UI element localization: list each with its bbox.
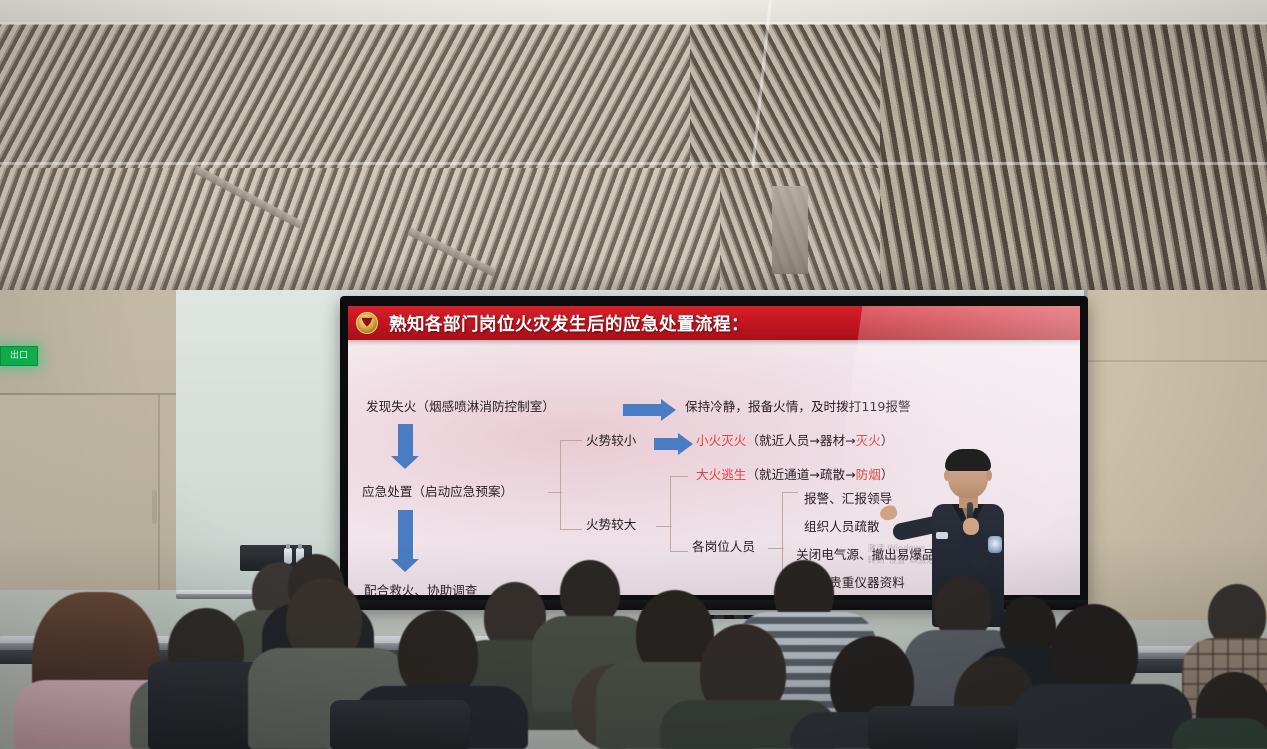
- body-green-top: [1172, 718, 1267, 749]
- ceiling: [0, 0, 1267, 296]
- exit-sign: 出口: [0, 346, 38, 366]
- small-fire-detail-pre: （就近人员→器材→: [746, 433, 855, 448]
- large-fire-detail-pre: （就近通道→疏散→: [746, 467, 855, 482]
- presenter-ear-right: [986, 470, 992, 481]
- large-fire-detail-red: 防烟: [856, 467, 881, 482]
- door-left[interactable]: [0, 395, 160, 590]
- water-bottle-1: [284, 548, 292, 564]
- ceiling-seam-mid: [0, 162, 1267, 165]
- door-handle[interactable]: [152, 490, 157, 524]
- chair-back-3[interactable]: [868, 706, 1018, 749]
- small-fire-action-label: 小火灭火: [696, 433, 746, 448]
- slide-title: 熟知各部门岗位火灾发生后的应急处置流程：: [389, 311, 749, 336]
- arrow-down-1: [398, 424, 413, 457]
- node-large-fire: 火势较大: [586, 518, 636, 532]
- chair-back-2[interactable]: [330, 700, 470, 749]
- wall-right: [1088, 290, 1267, 620]
- node-staff-task-2: 组织人员疏散: [804, 520, 880, 534]
- presenter-shoulder-patch-icon: [988, 536, 1002, 553]
- arrow-right-1: [623, 404, 661, 416]
- stub-emergency: [548, 492, 562, 493]
- ceiling-slats-far-right: [880, 24, 1267, 296]
- exit-sign-label: 出口: [10, 352, 28, 361]
- fire-service-badge-icon: [356, 312, 378, 334]
- presenter-ear-left: [944, 470, 950, 481]
- small-fire-detail-post: ）: [881, 433, 894, 448]
- training-room-scene: 出口 熟知各部门岗位火灾发生后的应急处置流程： 发现失火（烟感喷淋消防控制室）: [0, 0, 1267, 749]
- node-emergency-response: 应急处置（启动应急预案）: [362, 485, 513, 499]
- arrow-down-2: [398, 510, 413, 560]
- wall-right-seam: [1088, 360, 1267, 362]
- ceiling-light-housing: [772, 186, 808, 274]
- node-post-staff: 各岗位人员: [692, 540, 755, 554]
- presenter-hair: [945, 449, 991, 471]
- arrow-right-2: [654, 438, 678, 450]
- stub-staff: [768, 548, 784, 549]
- slide-header: 熟知各部门岗位火灾发生后的应急处置流程：: [348, 306, 1080, 340]
- node-keep-calm: 保持冷静，报备火情，及时拨打119报警: [685, 400, 911, 414]
- body: [1012, 684, 1192, 749]
- stub-large-fire: [656, 526, 672, 527]
- large-fire-detail-post: ）: [881, 467, 894, 482]
- ceiling-slats-left-upper: [0, 24, 720, 174]
- presenter-right-hand: [963, 518, 979, 535]
- bracket-fire-size: [560, 440, 582, 530]
- ceiling-seam-top: [0, 22, 1267, 25]
- small-fire-detail-red: 灭火: [856, 433, 881, 448]
- node-assist: 配合救火、协助调查: [364, 584, 477, 595]
- node-large-fire-action: 大火逃生（就近通道→疏散→防烟）: [696, 468, 893, 482]
- node-discover-fire: 发现失火（烟感喷淋消防控制室）: [366, 400, 555, 414]
- presenter-name-badge: [936, 532, 948, 539]
- large-fire-action-label: 大火逃生: [696, 467, 746, 482]
- wall-left: 出口: [0, 290, 176, 590]
- node-staff-task-1: 报警、汇报领导: [804, 492, 892, 506]
- node-small-fire-action: 小火灭火（就近人员→器材→灭火）: [696, 434, 893, 448]
- node-small-fire: 火势较小: [586, 434, 636, 448]
- bracket-large-fire: [670, 476, 688, 552]
